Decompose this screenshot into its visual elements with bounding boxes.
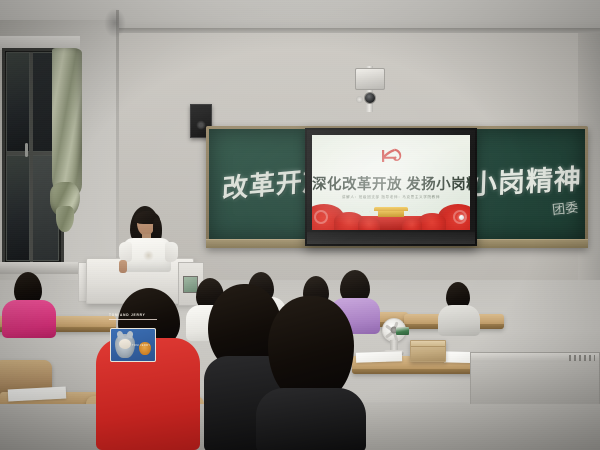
wall-stain bbox=[104, 8, 126, 38]
box-lid bbox=[411, 341, 445, 347]
student-torso bbox=[438, 305, 480, 336]
camera-ir-light bbox=[356, 96, 363, 103]
student-far-left bbox=[2, 272, 58, 334]
chalk-signature: 团委 bbox=[551, 197, 579, 219]
window-pane bbox=[6, 155, 30, 261]
slide-decorative-band: · · · · · · · · · · bbox=[312, 198, 470, 230]
cpc-party-emblem-icon bbox=[378, 146, 404, 168]
tiananmen-motif bbox=[374, 207, 408, 217]
slide-title: 深化改革开放 发扬小岗精神 bbox=[312, 173, 470, 194]
presenter-arm bbox=[119, 260, 127, 273]
slide-highlight-dot bbox=[459, 215, 464, 220]
presenter-at-podium bbox=[118, 206, 178, 272]
student-red: TOM AND JERRY TOM JERRY bbox=[96, 288, 200, 450]
window-pane bbox=[6, 52, 30, 152]
window-curtain bbox=[52, 48, 82, 200]
cardboard-box bbox=[410, 340, 446, 362]
cloud-motif bbox=[418, 213, 446, 230]
presentation-slide: 深化改革开放 发扬小岗精神 讲解人：班级团支部 指导老师：马克思主义学院教师 ·… bbox=[312, 135, 470, 230]
chalk-text-right: 小岗精神 bbox=[469, 157, 582, 202]
shirt-sub-text: TOM JERRY bbox=[132, 344, 151, 347]
student-head bbox=[268, 296, 354, 400]
green-object bbox=[396, 327, 409, 335]
radiator-fins bbox=[569, 355, 595, 361]
ceiling-camera bbox=[355, 68, 385, 90]
cat-face bbox=[119, 339, 131, 349]
presenter-sleeve bbox=[119, 242, 132, 262]
student-torso bbox=[2, 300, 56, 338]
camera-lens bbox=[364, 92, 376, 104]
student-torso bbox=[256, 388, 366, 450]
cloud-motif bbox=[402, 218, 422, 230]
presenter-shirt-print bbox=[143, 250, 154, 261]
projection-screen: 深化改革开放 发扬小岗精神 讲解人：班级团支部 指导老师：马克思主义学院教师 ·… bbox=[305, 128, 477, 246]
speaker-cone bbox=[197, 120, 206, 129]
shirt-rule bbox=[109, 319, 157, 320]
window-mullion bbox=[30, 52, 33, 262]
window-handle[interactable] bbox=[25, 143, 28, 157]
student-grey bbox=[438, 282, 482, 334]
tiananmen-body bbox=[378, 211, 404, 217]
cloud-swirl bbox=[314, 210, 328, 224]
student-dark bbox=[256, 296, 366, 450]
cloud-motif bbox=[358, 217, 380, 230]
classroom-photo: 改革开放 小岗精神 团委 深化改革开放 发扬小岗精神 讲解人：班级团支部 指导老… bbox=[0, 0, 600, 450]
wall-radiator-panel bbox=[470, 352, 600, 412]
presenter-sleeve bbox=[165, 242, 178, 262]
shirt-brand-text: TOM AND JERRY bbox=[109, 313, 157, 317]
screen-bezel bbox=[307, 232, 475, 244]
